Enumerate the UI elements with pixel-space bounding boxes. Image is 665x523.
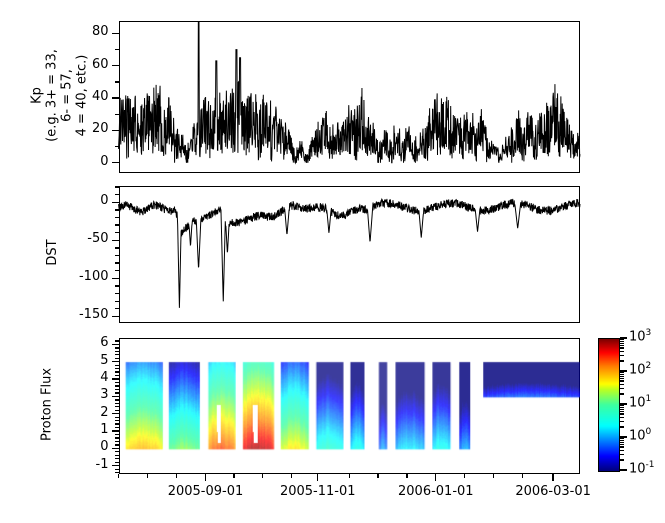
- dst-ytick-minor: [115, 224, 119, 225]
- kp-panel: [119, 21, 581, 173]
- colorbar-tick-minor: [620, 376, 624, 377]
- dst-ytick-minor: [115, 301, 119, 302]
- colorbar-tick-minor: [620, 411, 624, 412]
- colorbar-tick-minor: [620, 345, 624, 346]
- xtick-major: [435, 474, 436, 481]
- colorbar-tick-minor: [620, 372, 624, 373]
- kp-ytick-major: [112, 162, 119, 163]
- colorbar-tick-minor: [620, 442, 624, 443]
- colorbar-tick-minor: [620, 384, 624, 385]
- dst-ytick-major: [112, 278, 119, 279]
- colorbar-tick-minor: [620, 343, 624, 344]
- colorbar-tick-label: 10-1: [629, 460, 655, 476]
- xtick-minor: [522, 474, 523, 478]
- colorbar-tick-minor: [620, 380, 624, 381]
- kp-ytick-minor: [115, 81, 119, 82]
- proton-flux-spectrogram: [119, 338, 581, 474]
- colorbar-tick-minor: [620, 440, 624, 441]
- figure-canvas: 020406080-150-100-500-101234562005-09-01…: [0, 0, 665, 523]
- xtick-minor: [176, 474, 177, 478]
- kp-ytick-major: [112, 130, 119, 131]
- xtick-minor: [118, 474, 119, 478]
- xtick-minor: [262, 474, 263, 478]
- colorbar-tick-minor: [620, 351, 624, 352]
- xtick-major: [317, 474, 318, 481]
- dst-ytick-minor: [115, 217, 119, 218]
- xtick-minor: [349, 474, 350, 478]
- kp-ytick-major: [112, 65, 119, 66]
- colorbar-tick-minor: [620, 459, 624, 460]
- xtick-label: 2006-03-01: [493, 484, 613, 499]
- dst-ytick-major: [112, 240, 119, 241]
- colorbar-gradient: [598, 338, 620, 472]
- xtick-minor: [406, 474, 407, 478]
- dst-ytick-minor: [115, 209, 119, 210]
- flux-ytick-major: [112, 396, 119, 397]
- xtick-minor: [493, 474, 494, 478]
- colorbar-tick-minor: [620, 355, 624, 356]
- dst-ytick-minor: [115, 285, 119, 286]
- xtick-minor: [377, 474, 378, 478]
- xtick-label: 2006-01-01: [376, 484, 496, 499]
- flux-ytick-major: [112, 413, 119, 414]
- colorbar-tick-minor: [620, 374, 624, 375]
- flux-ytick-major: [112, 465, 119, 466]
- colorbar-tick-label: 103: [629, 328, 651, 344]
- dst-ytick-minor: [115, 232, 119, 233]
- colorbar-tick-minor: [620, 339, 624, 340]
- dst-ytick-minor: [115, 262, 119, 263]
- colorbar-tick-label: 102: [629, 361, 651, 377]
- xtick-minor: [233, 474, 234, 478]
- colorbar-tick-label: 100: [629, 427, 651, 443]
- kp-ytick-minor: [115, 114, 119, 115]
- colorbar-tick-minor: [620, 413, 624, 414]
- kp-ytick-minor: [115, 146, 119, 147]
- dst-panel: [119, 186, 581, 323]
- dst-ytick-minor: [115, 247, 119, 248]
- dst-ytick-minor: [115, 255, 119, 256]
- flux-ytick-major: [112, 430, 119, 431]
- kp-ytick-minor: [115, 49, 119, 50]
- dst-ytick-minor: [115, 308, 119, 309]
- dst-ytick-minor: [115, 186, 119, 187]
- colorbar-tick-major: [620, 469, 627, 470]
- kp-axis-label: Kp: [30, 0, 45, 201]
- flux-ytick-major: [112, 378, 119, 379]
- kp-axis-label: 4 = 40, etc.): [75, 0, 90, 201]
- dst-ytick-minor: [115, 194, 119, 195]
- colorbar-tick-minor: [620, 405, 624, 406]
- colorbar-tick-minor: [620, 454, 624, 455]
- colorbar-tick-minor: [620, 341, 624, 342]
- xtick-label: 2005-11-01: [258, 484, 378, 499]
- colorbar-tick-minor: [620, 446, 624, 447]
- flux-ytick-major: [112, 361, 119, 362]
- colorbar-tick-minor: [620, 421, 624, 422]
- colorbar-tick-minor: [620, 393, 624, 394]
- colorbar-tick-minor: [620, 450, 624, 451]
- colorbar-tick-minor: [620, 378, 624, 379]
- colorbar-tick-minor: [620, 426, 624, 427]
- flux-ytick-major: [112, 448, 119, 449]
- dst-ytick-major: [112, 316, 119, 317]
- xtick-minor: [464, 474, 465, 478]
- colorbar-tick-minor: [620, 407, 624, 408]
- xtick-minor: [147, 474, 148, 478]
- kp-ytick-major: [112, 33, 119, 34]
- proton-flux-axis-label: Proton Flux: [40, 306, 55, 502]
- dst-ytick-minor: [115, 270, 119, 271]
- xtick-major: [205, 474, 206, 481]
- xtick-major: [552, 474, 553, 481]
- colorbar-tick-minor: [620, 444, 624, 445]
- colorbar-tick-minor: [620, 438, 624, 439]
- colorbar-tick-label: 101: [629, 394, 651, 410]
- colorbar-tick-minor: [620, 360, 624, 361]
- flux-ytick-major: [112, 344, 119, 345]
- colorbar-tick-minor: [620, 409, 624, 410]
- kp-ytick-major: [112, 97, 119, 98]
- dst-ytick-major: [112, 202, 119, 203]
- dst-ytick-minor: [115, 293, 119, 294]
- kp-axis-label: 6- = 57,: [60, 0, 75, 201]
- xtick-label: 2005-09-01: [145, 484, 265, 499]
- colorbar-tick-minor: [620, 347, 624, 348]
- colorbar-tick-minor: [620, 417, 624, 418]
- colorbar-tick-minor: [620, 388, 624, 389]
- xtick-minor: [291, 474, 292, 478]
